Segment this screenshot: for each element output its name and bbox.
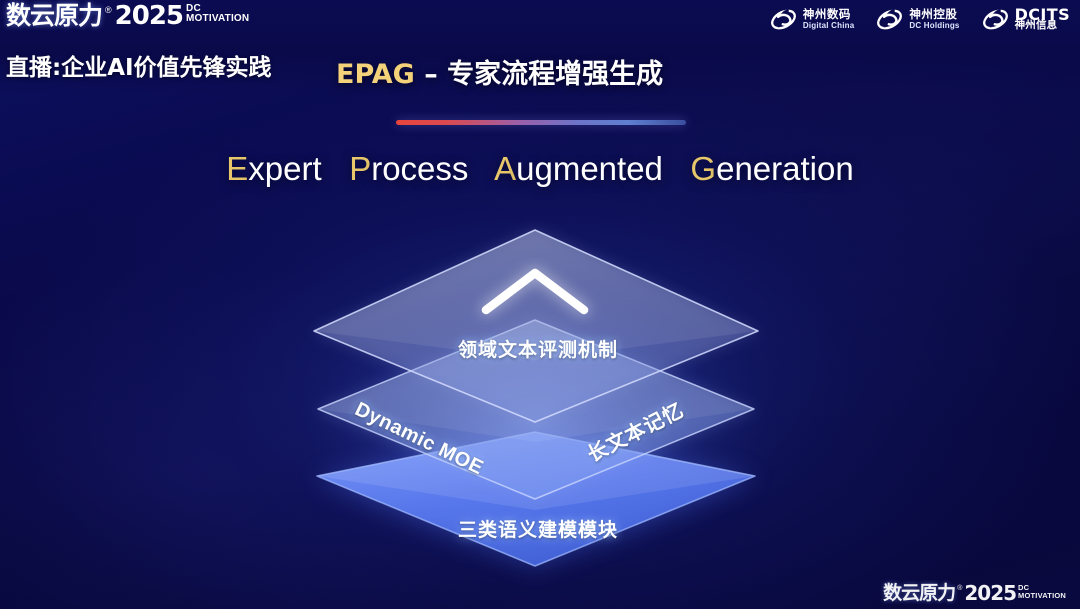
partner-logo-group: 神州数码 Digital China 神州控股 DC Holdings xyxy=(770,6,1070,33)
swirl-logo-icon xyxy=(770,6,797,33)
partner-text: DCITS 神州信息 xyxy=(1015,9,1070,31)
partner-name-cn: 神州控股 xyxy=(909,9,959,20)
subtitle-word-generation: Generation xyxy=(690,150,853,187)
title-acronym: EPAG xyxy=(336,59,415,90)
partner-logo-dcits: DCITS 神州信息 xyxy=(982,6,1070,33)
partner-name-cn: 神州数码 xyxy=(803,9,855,20)
subtitle-space xyxy=(672,150,681,187)
partner-text: 神州控股 DC Holdings xyxy=(909,9,959,31)
page-title: EPAG – 专家流程增强生成 xyxy=(336,52,663,91)
watermark-dc-motivation: DC MOTIVATION xyxy=(1018,583,1066,600)
subtitle-expansion: Expert Process Augmented Generation xyxy=(0,150,1080,188)
partner-name-en: DC Holdings xyxy=(909,20,959,31)
partner-text: 神州数码 Digital China xyxy=(803,9,855,31)
subtitle-word-process: Process xyxy=(349,150,468,187)
subtitle-space xyxy=(478,150,487,187)
partner-name-en: 神州信息 xyxy=(1015,20,1070,31)
gradient-divider xyxy=(396,120,686,125)
layer-stack-diagram: 领域文本评测机制 Dynamic MOE 长文本记忆 三类语义建模模块 xyxy=(288,210,788,590)
subtitle-word-augmented: Augmented xyxy=(494,150,663,187)
partner-logo-digital-china: 神州数码 Digital China xyxy=(770,6,855,33)
swirl-logo-icon xyxy=(982,6,1009,33)
watermark-registered-mark: ® xyxy=(957,583,962,593)
live-session-label: 直播:企业AI价值先锋实践 xyxy=(6,48,272,82)
watermark-dc-line2: MOTIVATION xyxy=(1018,592,1066,600)
brand-dc-motivation: DC MOTIVATION xyxy=(186,3,249,24)
subtitle-space xyxy=(331,150,340,187)
brand-year: 2025 xyxy=(115,3,183,29)
event-brand-watermark: 数云原力 ® 2025 DC MOTIVATION xyxy=(883,583,1066,603)
brand-name-cn: 数云原力 xyxy=(6,3,102,29)
layer-label-bottom: 三类语义建模模块 xyxy=(288,515,788,542)
partner-name-cn: DCITS xyxy=(1015,9,1070,20)
subtitle-word-expert: Expert xyxy=(226,150,321,187)
watermark-name-cn: 数云原力 xyxy=(883,583,955,603)
title-chinese: 专家流程增强生成 xyxy=(447,59,663,90)
brand-registered-mark: ® xyxy=(105,3,112,15)
event-brand-logo: 数云原力 ® 2025 DC MOTIVATION xyxy=(6,3,249,29)
brand-dc-line2: MOTIVATION xyxy=(186,14,249,24)
title-separator: – xyxy=(415,59,447,90)
slide-canvas: 数云原力 ® 2025 DC MOTIVATION 直播:企业AI价值先锋实践 … xyxy=(0,0,1080,609)
watermark-year: 2025 xyxy=(964,583,1016,603)
partner-name-en: Digital China xyxy=(803,20,855,31)
swirl-logo-icon xyxy=(876,6,903,33)
partner-logo-dc-holdings: 神州控股 DC Holdings xyxy=(876,6,959,33)
layer-label-top: 领域文本评测机制 xyxy=(288,335,788,362)
